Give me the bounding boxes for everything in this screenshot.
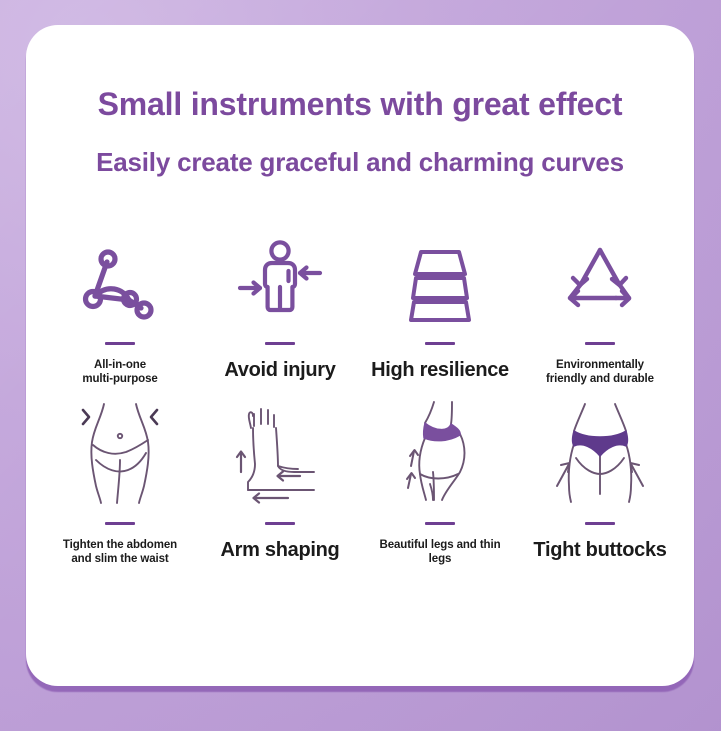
feature-label: All-in-one multi-purpose	[82, 359, 157, 386]
divider-dash	[425, 522, 455, 525]
divider-dash	[585, 522, 615, 525]
feature-label: Arm shaping	[221, 539, 340, 563]
feature-label-line1: All-in-one	[82, 359, 157, 373]
arm-shaping-icon	[228, 394, 332, 506]
feature-label: Environmentally friendly and durable	[546, 359, 654, 386]
feature-label-line1: Tighten the abdomen	[63, 539, 177, 553]
stacked-layers-icon	[397, 230, 483, 322]
feature-item-environmentally-friendly: Environmentally friendly and durable	[520, 230, 680, 386]
node-link-scooter-icon	[77, 230, 163, 322]
legs-side-profile-icon	[390, 394, 490, 506]
feature-label-line1: High resilience	[371, 359, 509, 383]
divider-dash	[105, 522, 135, 525]
content-card: Small instruments with great effect Easi…	[26, 25, 694, 686]
page-title: Small instruments with great effect	[26, 87, 694, 122]
divider-dash	[265, 522, 295, 525]
recycle-icon	[556, 230, 644, 322]
feature-item-beautiful-legs: Beautiful legs and thin legs	[360, 394, 520, 566]
divider-dash	[105, 342, 135, 345]
buttocks-rear-icon	[549, 394, 651, 506]
feature-label-line1: Beautiful legs and thin	[379, 539, 500, 553]
feature-item-tighten-abdomen: Tighten the abdomen and slim the waist	[40, 394, 200, 566]
feature-label-line2: and slim the waist	[63, 553, 177, 567]
feature-label-line1: Avoid injury	[224, 359, 335, 383]
feature-label-line2: friendly and durable	[546, 373, 654, 387]
feature-row-1: All-in-one multi-purpose	[40, 230, 680, 386]
promo-banner-root: Small instruments with great effect Easi…	[0, 0, 721, 731]
waist-abdomen-icon	[70, 394, 170, 506]
divider-dash	[585, 342, 615, 345]
divider-dash	[265, 342, 295, 345]
feature-label-line1: Tight buttocks	[533, 539, 666, 563]
feature-label-line1: Arm shaping	[221, 539, 340, 563]
feature-label-line2: legs	[379, 553, 500, 567]
feature-label-line2: multi-purpose	[82, 373, 157, 387]
divider-dash	[425, 342, 455, 345]
feature-item-high-resilience: High resilience	[360, 230, 520, 386]
feature-item-all-in-one: All-in-one multi-purpose	[40, 230, 200, 386]
feature-label: Tighten the abdomen and slim the waist	[63, 539, 177, 566]
feature-label-line1: Environmentally	[546, 359, 654, 373]
feature-item-avoid-injury: Avoid injury	[200, 230, 360, 386]
feature-label: Beautiful legs and thin legs	[379, 539, 500, 566]
person-arrows-inward-icon	[234, 230, 326, 322]
feature-grid: All-in-one multi-purpose	[40, 230, 680, 566]
feature-label: Tight buttocks	[533, 539, 666, 563]
page-subtitle: Easily create graceful and charming curv…	[26, 148, 694, 177]
feature-item-tight-buttocks: Tight buttocks	[520, 394, 680, 566]
feature-row-2: Tighten the abdomen and slim the waist	[40, 394, 680, 566]
feature-item-arm-shaping: Arm shaping	[200, 394, 360, 566]
feature-label: High resilience	[371, 359, 509, 383]
feature-label: Avoid injury	[224, 359, 335, 383]
headings-block: Small instruments with great effect Easi…	[26, 87, 694, 177]
